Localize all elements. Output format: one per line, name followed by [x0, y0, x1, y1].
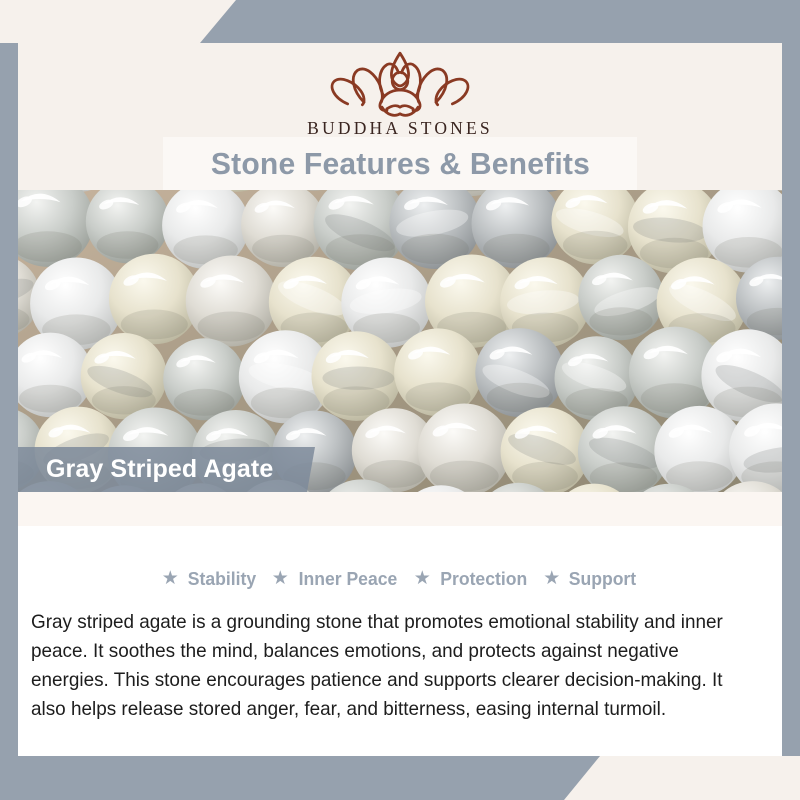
feature-item: ★Inner Peace — [272, 568, 400, 590]
feature-item: ★Support — [543, 568, 638, 590]
stone-name-bar: Gray Striped Agate — [18, 447, 315, 492]
title-banner: Stone Features & Benefits — [163, 137, 637, 190]
decorative-edge-right — [782, 43, 800, 756]
brand-wordmark: BUDDHA STONES — [307, 118, 493, 139]
star-icon: ★ — [162, 569, 179, 588]
content-card: ★Stability★Inner Peace★Protection★Suppor… — [18, 492, 782, 756]
page-title: Stone Features & Benefits — [210, 146, 589, 182]
lotus-meditation-icon — [316, 45, 484, 117]
stone-photo — [18, 190, 782, 492]
star-icon: ★ — [543, 569, 560, 588]
feature-list: ★Stability★Inner Peace★Protection★Suppor… — [18, 568, 782, 590]
stone-name: Gray Striped Agate — [18, 455, 273, 484]
feature-label: Support — [569, 568, 636, 590]
stone-description: Gray striped agate is a grounding stone … — [31, 608, 747, 724]
decorative-edge-left — [0, 43, 18, 756]
star-icon: ★ — [272, 569, 289, 588]
page-inner: BUDDHA STONES — [18, 43, 782, 756]
brand-header: BUDDHA STONES — [18, 43, 782, 147]
feature-label: Protection — [440, 568, 527, 590]
decorative-band-top — [0, 0, 800, 43]
feature-item: ★Stability — [162, 568, 258, 590]
star-icon: ★ — [414, 569, 431, 588]
feature-label: Stability — [188, 568, 256, 590]
feature-item: ★Protection — [414, 568, 530, 590]
infographic-page: BUDDHA STONES — [0, 0, 800, 800]
feature-label: Inner Peace — [298, 568, 397, 590]
agate-bead-illustration — [18, 190, 782, 492]
decorative-band-bottom — [0, 756, 800, 800]
